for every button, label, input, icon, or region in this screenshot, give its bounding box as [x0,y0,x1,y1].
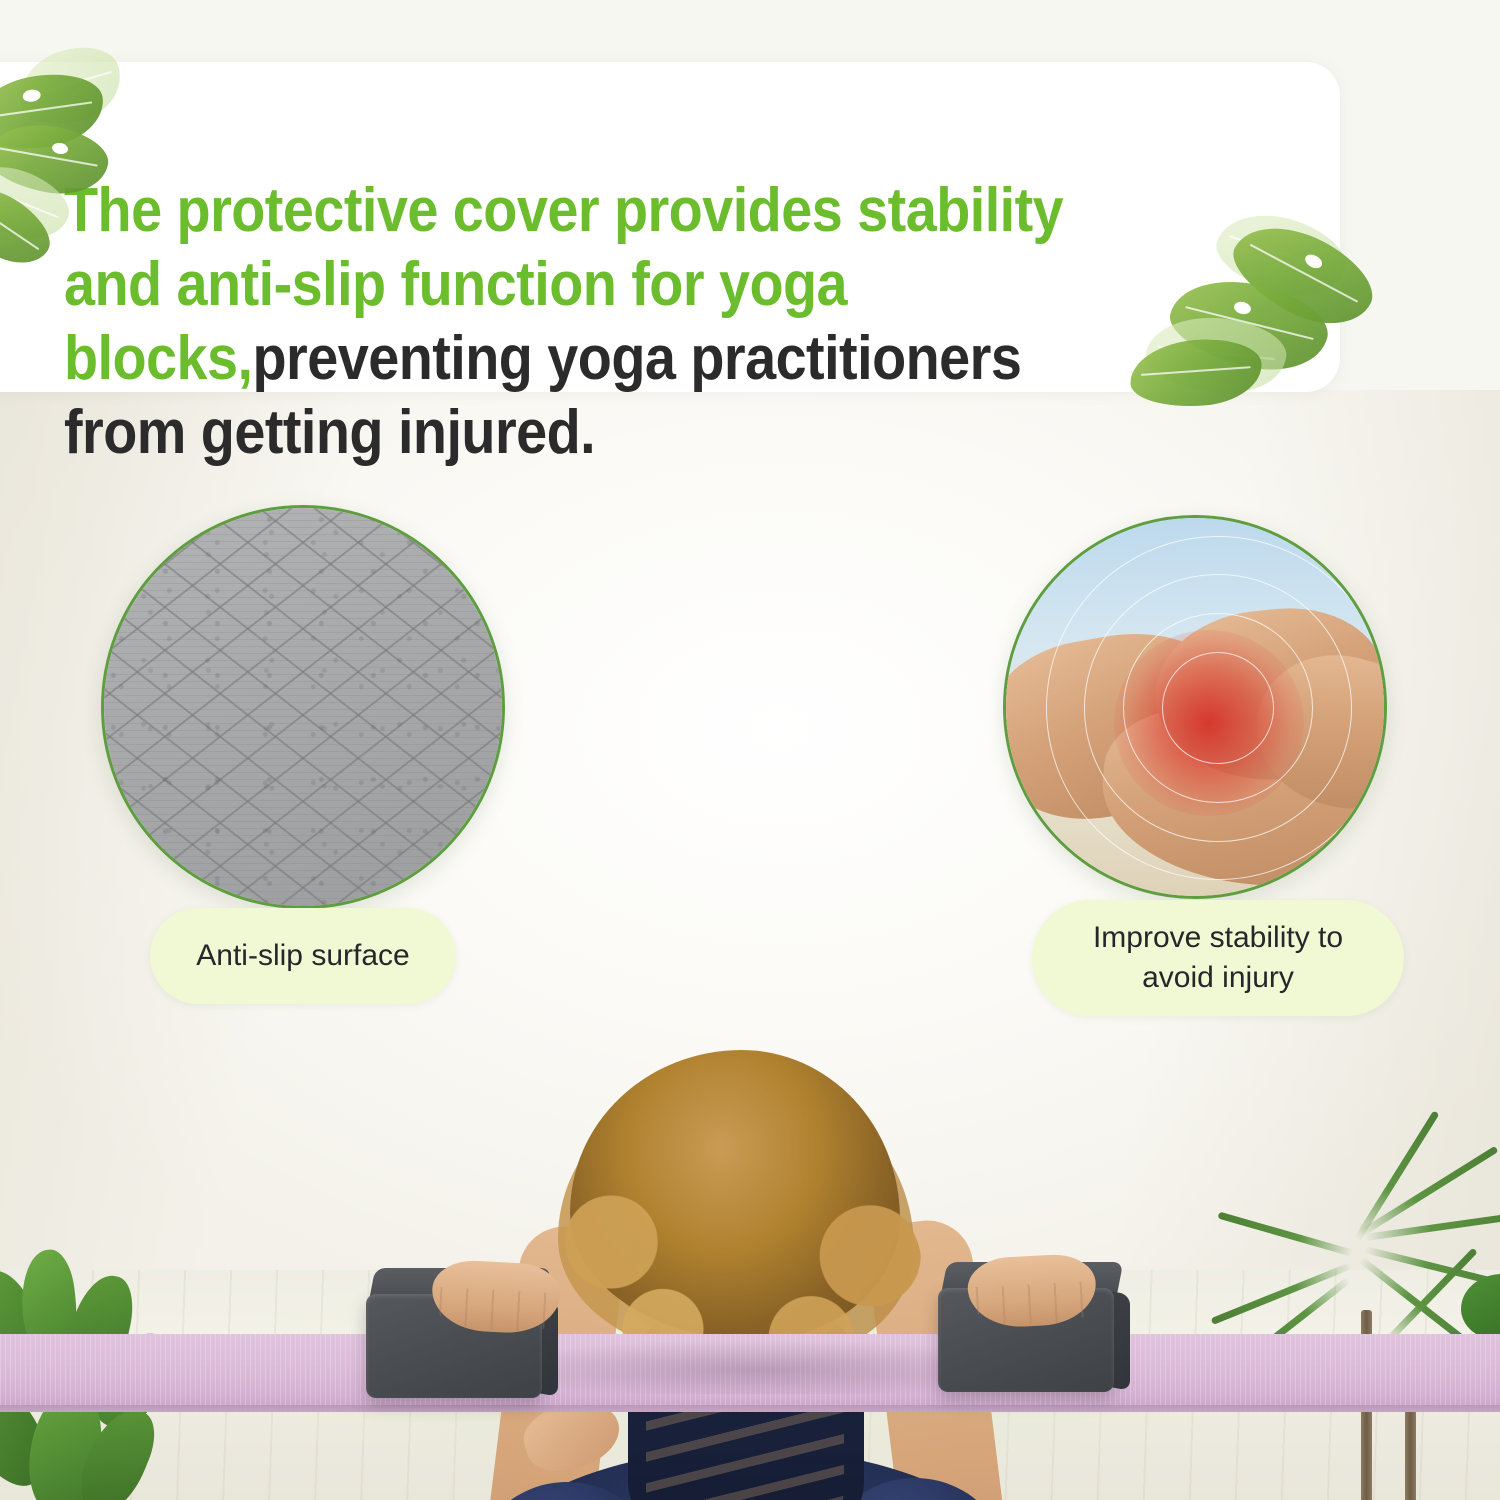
caption-anti-slip-label: Anti-slip surface [196,936,409,976]
plant-leaf [1461,1274,1500,1340]
caption-stability: Improve stability to avoid injury [1032,900,1404,1016]
ripple-rings [1068,558,1368,858]
anti-slip-grain [104,508,502,906]
yoga-mat-edge [0,1405,1500,1412]
headline-card: The protective cover provides stability … [0,62,1340,392]
hand-on-right-block [966,1253,1097,1330]
feature-image-anti-slip [101,505,505,909]
product-feature-banner: The protective cover provides stability … [0,0,1500,1500]
page-title: The protective cover provides stability … [64,174,1158,470]
hand-on-left-block [430,1259,561,1336]
ripple-ring [1046,536,1387,880]
feature-image-stability [1003,515,1387,899]
caption-anti-slip: Anti-slip surface [150,908,456,1004]
caption-stability-label: Improve stability to avoid injury [1058,918,1378,998]
